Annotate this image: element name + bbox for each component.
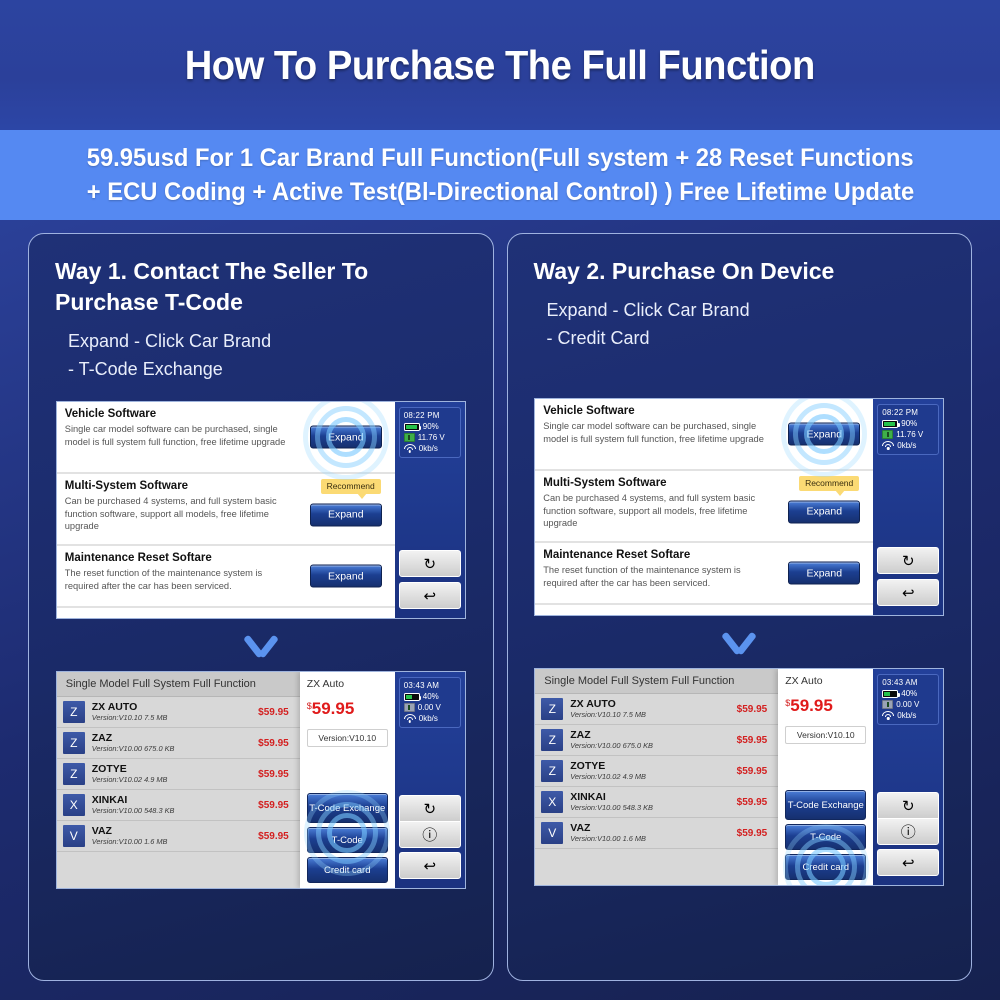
device-rail: 08:22 PM 90% 11.76 V 0kb/s	[873, 399, 943, 615]
brand-price: $59.95	[258, 800, 289, 811]
detail-version-field[interactable]: Version:V10.10	[307, 729, 388, 747]
recommend-badge: Recommend	[799, 476, 859, 491]
software-item-title: Vehicle Software	[543, 405, 865, 417]
software-item-desc: The reset function of the maintenance sy…	[65, 567, 297, 592]
wifi-icon	[882, 441, 894, 450]
brand-initial-icon: Z	[541, 729, 563, 751]
brand-initial-icon: V	[541, 822, 563, 844]
brand-price: $59.95	[258, 707, 289, 718]
expand-button-multisystem[interactable]: Expand	[788, 500, 860, 523]
brand-price: $59.95	[258, 738, 289, 749]
battery-icon	[882, 420, 898, 428]
tcode-button[interactable]: T-Code	[307, 827, 388, 853]
tcode-button[interactable]: T-Code	[785, 824, 866, 850]
brand-detail-pane: ZX Auto $59.95 Version:V10.10 T-Code Exc…	[300, 672, 395, 888]
brand-initial-icon: Z	[63, 732, 85, 754]
software-item-multisystem: Recommend Multi-System Software Can be p…	[535, 471, 873, 543]
price-amount: 59.95	[312, 699, 355, 718]
price-amount: 59.95	[790, 696, 833, 715]
brand-name: ZX AUTO	[570, 698, 729, 710]
brand-initial-icon: X	[63, 794, 85, 816]
status-voltage: 11.76 V	[418, 433, 445, 442]
status-voltage: 11.76 V	[896, 430, 923, 439]
rail-button-group: ↻ ↩	[877, 547, 939, 606]
brand-screen: Single Model Full System Full Function Z…	[535, 669, 873, 885]
way-1-step-2: - T-Code Exchange	[55, 355, 467, 383]
tcode-exchange-button[interactable]: T-Code Exchange	[785, 790, 866, 820]
device-rail: 08:22 PM 90% 11.76 V 0kb/s	[395, 402, 465, 618]
device-rail: 03:43 AM 40% 0.00 V 0kb/s	[873, 669, 943, 885]
status-network: 0kb/s	[897, 711, 916, 720]
way-2-step-2: - Credit Card	[534, 324, 946, 352]
table-row[interactable]: Z ZX AUTO Version:V10.10 7.5 MB $59.95	[57, 697, 300, 728]
status-network: 0kb/s	[897, 441, 916, 450]
brand-version: Version:V10.00 675.0 KB	[570, 741, 729, 751]
battery-icon	[404, 693, 420, 701]
voltage-icon	[404, 703, 415, 712]
brand-initial-icon: Z	[541, 698, 563, 720]
wifi-icon	[404, 714, 416, 723]
brand-list-header: Single Model Full System Full Function	[535, 669, 778, 694]
flow-arrow-1	[55, 619, 467, 671]
way-1-title: Way 1. Contact The Seller To Purchase T-…	[55, 256, 467, 318]
device-screenshot-brands: Single Model Full System Full Function Z…	[56, 671, 466, 889]
brand-screen: Single Model Full System Full Function Z…	[57, 672, 395, 888]
status-battery: 40%	[423, 692, 439, 701]
table-row[interactable]: V VAZ Version:V10.00 1.6 MB $59.95	[535, 818, 778, 849]
status-time: 08:22 PM	[882, 408, 934, 417]
brand-version: Version:V10.10 7.5 MB	[92, 713, 251, 723]
brand-name: VAZ	[570, 822, 729, 834]
software-item-vehicle: Vehicle Software Single car model softwa…	[57, 402, 395, 474]
status-voltage-row: 11.76 V	[882, 430, 934, 439]
software-list: Vehicle Software Single car model softwa…	[535, 399, 873, 615]
software-item-vehicle: Vehicle Software Single car model softwa…	[535, 399, 873, 471]
status-box: 03:43 AM 40% 0.00 V 0kb/s	[877, 674, 939, 725]
status-battery: 90%	[901, 419, 917, 428]
status-voltage: 0.00 V	[896, 700, 919, 709]
detail-version-field[interactable]: Version:V10.10	[785, 726, 866, 744]
brand-name: XINKAI	[570, 791, 729, 803]
voltage-icon	[882, 430, 893, 439]
battery-icon	[404, 423, 420, 431]
brand-name: ZOTYE	[92, 763, 251, 775]
hero-banner: How To Purchase The Full Function	[0, 0, 1000, 130]
brand-initial-icon: X	[541, 791, 563, 813]
detail-action-group: T-Code Exchange T-Code Credit card	[307, 793, 388, 883]
brand-version: Version:V10.00 548.3 KB	[92, 806, 251, 816]
rail-button-group: ↻ ↩	[399, 550, 461, 609]
brand-price: $59.95	[258, 831, 289, 842]
software-item-desc: The reset function of the maintenance sy…	[543, 564, 775, 589]
back-icon[interactable]: ↩	[399, 852, 461, 879]
status-battery-row: 90%	[882, 419, 934, 428]
back-icon[interactable]: ↩	[877, 579, 939, 606]
way-2-panel: Way 2. Purchase On Device Expand - Click…	[507, 233, 973, 981]
brand-list-header: Single Model Full System Full Function	[57, 672, 300, 697]
expand-button-vehicle[interactable]: Expand	[310, 426, 382, 449]
brand-price: $59.95	[737, 735, 768, 746]
brand-initial-icon: V	[63, 825, 85, 847]
software-item-title: Maintenance Reset Softare	[543, 549, 865, 561]
brand-name: ZAZ	[570, 729, 729, 741]
software-item-desc: Can be purchased 4 systems, and full sys…	[543, 492, 775, 530]
info-icon[interactable]: ⓘ	[877, 818, 939, 845]
brand-name: ZAZ	[92, 732, 251, 744]
brand-name: XINKAI	[92, 794, 251, 806]
brand-name: VAZ	[92, 825, 251, 837]
voltage-icon	[404, 433, 415, 442]
rail-button-group-top: ↻ ⓘ	[877, 792, 939, 845]
flow-arrow-2	[534, 616, 946, 668]
refresh-icon[interactable]: ↻	[877, 547, 939, 574]
device-screenshot-software: Vehicle Software Single car model softwa…	[56, 401, 466, 619]
brand-initial-icon: Z	[63, 701, 85, 723]
ways-container: Way 1. Contact The Seller To Purchase T-…	[0, 233, 1000, 981]
brand-price: $59.95	[737, 828, 768, 839]
status-box: 03:43 AM 40% 0.00 V 0kb/s	[399, 677, 461, 728]
detail-brand-name: ZX Auto	[785, 675, 866, 687]
table-row[interactable]: Z ZOTYE Version:V10.02 4.9 MB $59.95	[535, 756, 778, 787]
software-item-maintenance: Maintenance Reset Softare The reset func…	[57, 546, 395, 608]
voltage-icon	[882, 700, 893, 709]
software-list: Vehicle Software Single car model softwa…	[57, 402, 395, 618]
table-row[interactable]: Z ZX AUTO Version:V10.10 7.5 MB $59.95	[535, 694, 778, 725]
wifi-icon	[882, 711, 894, 720]
status-network: 0kb/s	[419, 714, 438, 723]
software-item-desc: Single car model software can be purchas…	[543, 420, 775, 445]
status-battery-row: 40%	[882, 689, 934, 698]
status-network-row: 0kb/s	[882, 441, 934, 450]
brand-price: $59.95	[737, 766, 768, 777]
rail-button-group-bottom: ↩	[399, 852, 461, 879]
way-2-title: Way 2. Purchase On Device	[534, 256, 946, 287]
software-item-desc: Can be purchased 4 systems, and full sys…	[65, 495, 297, 533]
status-voltage: 0.00 V	[418, 703, 441, 712]
brand-price: $59.95	[258, 769, 289, 780]
way-2-step-1: Expand - Click Car Brand	[534, 296, 946, 324]
table-row[interactable]: Z ZAZ Version:V10.00 675.0 KB $59.95	[57, 728, 300, 759]
device-rail: 03:43 AM 40% 0.00 V 0kb/s	[395, 672, 465, 888]
brand-version: Version:V10.00 1.6 MB	[570, 834, 729, 844]
brand-version: Version:V10.00 1.6 MB	[92, 837, 251, 847]
battery-icon	[882, 690, 898, 698]
brand-version: Version:V10.00 548.3 KB	[570, 803, 729, 813]
credit-card-button[interactable]: Credit card	[307, 857, 388, 883]
brand-price: $59.95	[737, 704, 768, 715]
table-row[interactable]: V VAZ Version:V10.00 1.6 MB $59.95	[57, 821, 300, 852]
expand-button-maintenance[interactable]: Expand	[788, 562, 860, 585]
back-icon[interactable]: ↩	[877, 849, 939, 876]
status-time: 03:43 AM	[882, 678, 934, 687]
brand-version: Version:V10.02 4.9 MB	[570, 772, 729, 782]
wifi-icon	[404, 444, 416, 453]
status-time: 03:43 AM	[404, 681, 456, 690]
expand-button-maintenance[interactable]: Expand	[310, 565, 382, 588]
rail-button-group-bottom: ↩	[877, 849, 939, 876]
detail-price: $59.95	[785, 696, 866, 716]
way-1-panel: Way 1. Contact The Seller To Purchase T-…	[28, 233, 494, 981]
expand-button-multisystem[interactable]: Expand	[310, 503, 382, 526]
way-1-step-1: Expand - Click Car Brand	[55, 327, 467, 355]
status-battery: 90%	[423, 422, 439, 431]
brand-version: Version:V10.02 4.9 MB	[92, 775, 251, 785]
subtitle-line-2: + ECU Coding + Active Test(Bl-Directiona…	[86, 175, 913, 209]
refresh-icon[interactable]: ↻	[399, 795, 461, 822]
info-icon[interactable]: ⓘ	[399, 821, 461, 848]
tcode-exchange-button[interactable]: T-Code Exchange	[307, 793, 388, 823]
status-network-row: 0kb/s	[882, 711, 934, 720]
detail-price: $59.95	[307, 699, 388, 719]
status-battery-row: 90%	[404, 422, 456, 431]
status-network-row: 0kb/s	[404, 444, 456, 453]
brand-detail-pane: ZX Auto $59.95 Version:V10.10 T-Code Exc…	[778, 669, 873, 885]
table-row[interactable]: X XINKAI Version:V10.00 548.3 KB $59.95	[535, 787, 778, 818]
status-battery: 40%	[901, 689, 917, 698]
status-box: 08:22 PM 90% 11.76 V 0kb/s	[877, 404, 939, 455]
software-item-multisystem: Recommend Multi-System Software Can be p…	[57, 474, 395, 546]
rail-button-group-top: ↻ ⓘ	[399, 795, 461, 848]
brand-version: Version:V10.10 7.5 MB	[570, 710, 729, 720]
expand-button-vehicle[interactable]: Expand	[788, 423, 860, 446]
table-row[interactable]: Z ZOTYE Version:V10.02 4.9 MB $59.95	[57, 759, 300, 790]
status-time: 08:22 PM	[404, 411, 456, 420]
device-screenshot-software: Vehicle Software Single car model softwa…	[534, 398, 944, 616]
page-title: How To Purchase The Full Function	[185, 42, 815, 89]
detail-action-group: T-Code Exchange T-Code Credit card	[785, 790, 866, 880]
brand-list: Single Model Full System Full Function Z…	[57, 672, 300, 888]
detail-brand-name: ZX Auto	[307, 678, 388, 690]
subtitle-line-1: 59.95usd For 1 Car Brand Full Function(F…	[87, 141, 914, 175]
brand-name: ZOTYE	[570, 760, 729, 772]
brand-price: $59.95	[737, 797, 768, 808]
status-battery-row: 40%	[404, 692, 456, 701]
chevron-down-icon	[241, 634, 281, 656]
software-item-maintenance: Maintenance Reset Softare The reset func…	[535, 543, 873, 605]
table-row[interactable]: Z ZAZ Version:V10.00 675.0 KB $59.95	[535, 725, 778, 756]
status-voltage-row: 0.00 V	[404, 703, 456, 712]
software-item-desc: Single car model software can be purchas…	[65, 423, 297, 448]
status-box: 08:22 PM 90% 11.76 V 0kb/s	[399, 407, 461, 458]
software-item-title: Maintenance Reset Softare	[65, 552, 387, 564]
status-network-row: 0kb/s	[404, 714, 456, 723]
status-voltage-row: 0.00 V	[882, 700, 934, 709]
brand-initial-icon: Z	[63, 763, 85, 785]
status-voltage-row: 11.76 V	[404, 433, 456, 442]
refresh-icon[interactable]: ↻	[399, 550, 461, 577]
brand-version: Version:V10.00 675.0 KB	[92, 744, 251, 754]
software-item-title: Vehicle Software	[65, 408, 387, 420]
credit-card-button[interactable]: Credit card	[785, 854, 866, 880]
brand-name: ZX AUTO	[92, 701, 251, 713]
brand-initial-icon: Z	[541, 760, 563, 782]
back-icon[interactable]: ↩	[399, 582, 461, 609]
refresh-icon[interactable]: ↻	[877, 792, 939, 819]
recommend-badge: Recommend	[321, 479, 381, 494]
chevron-down-icon	[719, 631, 759, 653]
status-network: 0kb/s	[419, 444, 438, 453]
brand-list: Single Model Full System Full Function Z…	[535, 669, 778, 885]
table-row[interactable]: X XINKAI Version:V10.00 548.3 KB $59.95	[57, 790, 300, 821]
device-screenshot-brands: Single Model Full System Full Function Z…	[534, 668, 944, 886]
subtitle-band: 59.95usd For 1 Car Brand Full Function(F…	[0, 130, 1000, 220]
